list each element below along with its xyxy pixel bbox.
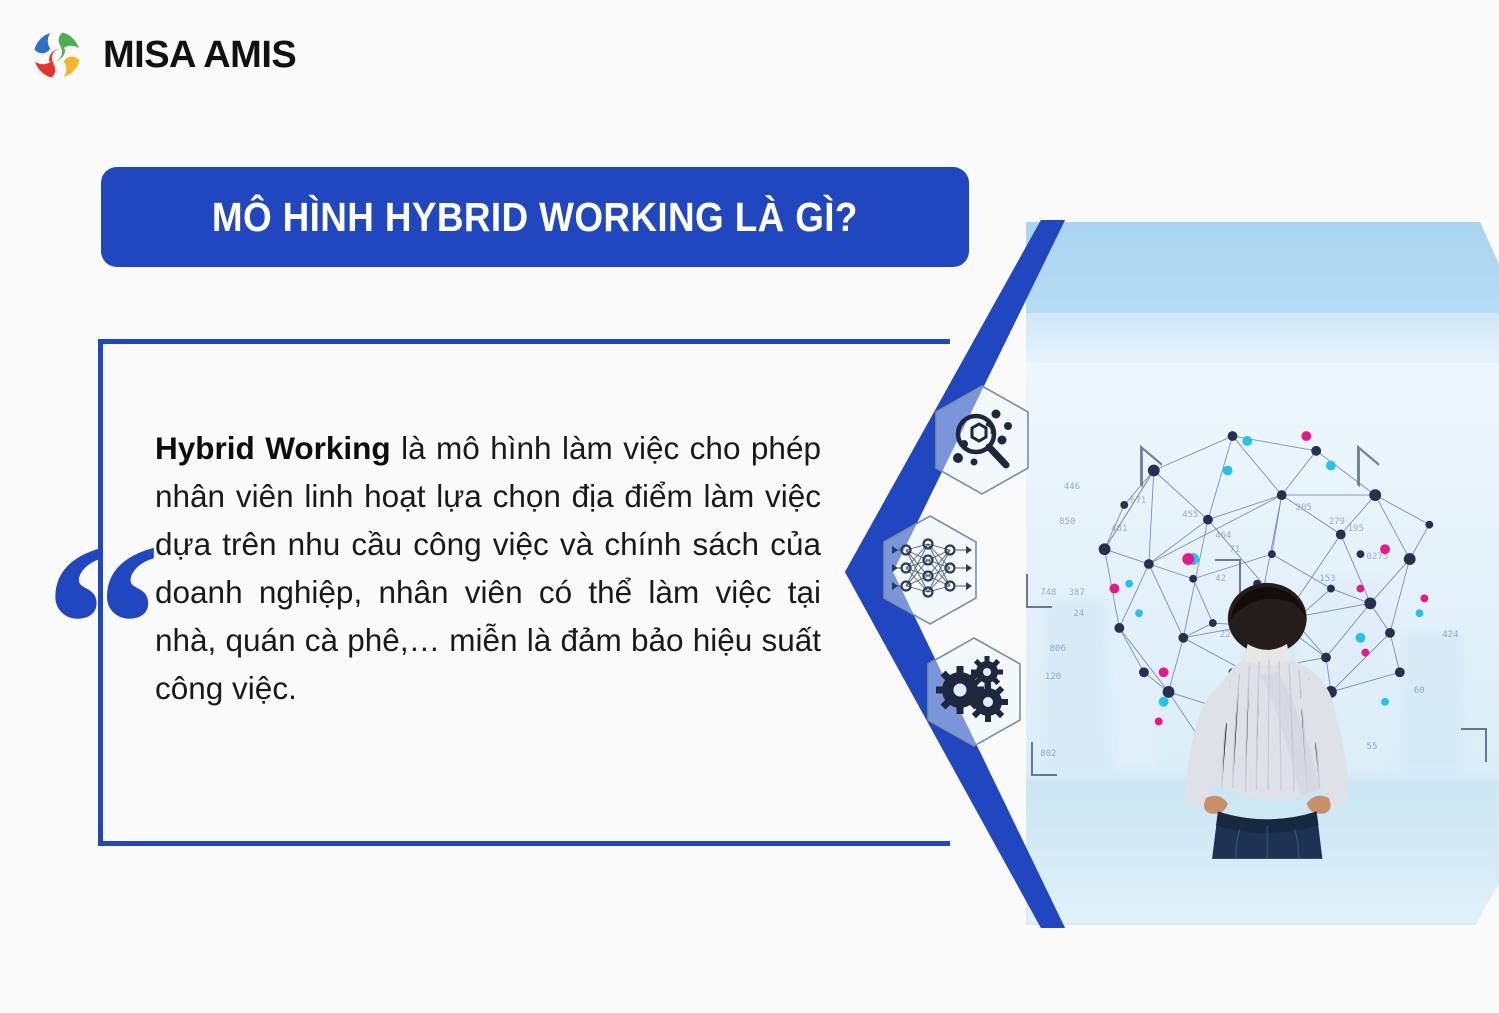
hero-photo: 446 850 748 387 24 806 120 802 671 481 4… (1026, 222, 1499, 925)
photo-glass (1026, 313, 1499, 369)
magnifier-hex-icon (930, 382, 1034, 498)
quote-body: là mô hình làm việc cho phép nhân viên l… (155, 430, 821, 706)
quote-lead: Hybrid Working (155, 430, 391, 466)
photo-sky (1026, 222, 1499, 320)
title-banner: MÔ HÌNH HYBRID WORKING LÀ GÌ? (101, 167, 969, 267)
misa-pinwheel-logo-icon (28, 26, 86, 84)
brand-name: MISA AMIS (103, 34, 296, 77)
quote-mark-icon: “ (44, 508, 164, 648)
person-silhouette (1149, 517, 1386, 925)
page-title: MÔ HÌNH HYBRID WORKING LÀ GÌ? (212, 194, 858, 241)
quote-paragraph: Hybrid Working là mô hình làm việc cho p… (155, 424, 821, 712)
brand-logo: MISA AMIS (28, 26, 296, 84)
neural-network-hex-icon (878, 512, 982, 628)
gears-hex-icon (922, 634, 1026, 750)
